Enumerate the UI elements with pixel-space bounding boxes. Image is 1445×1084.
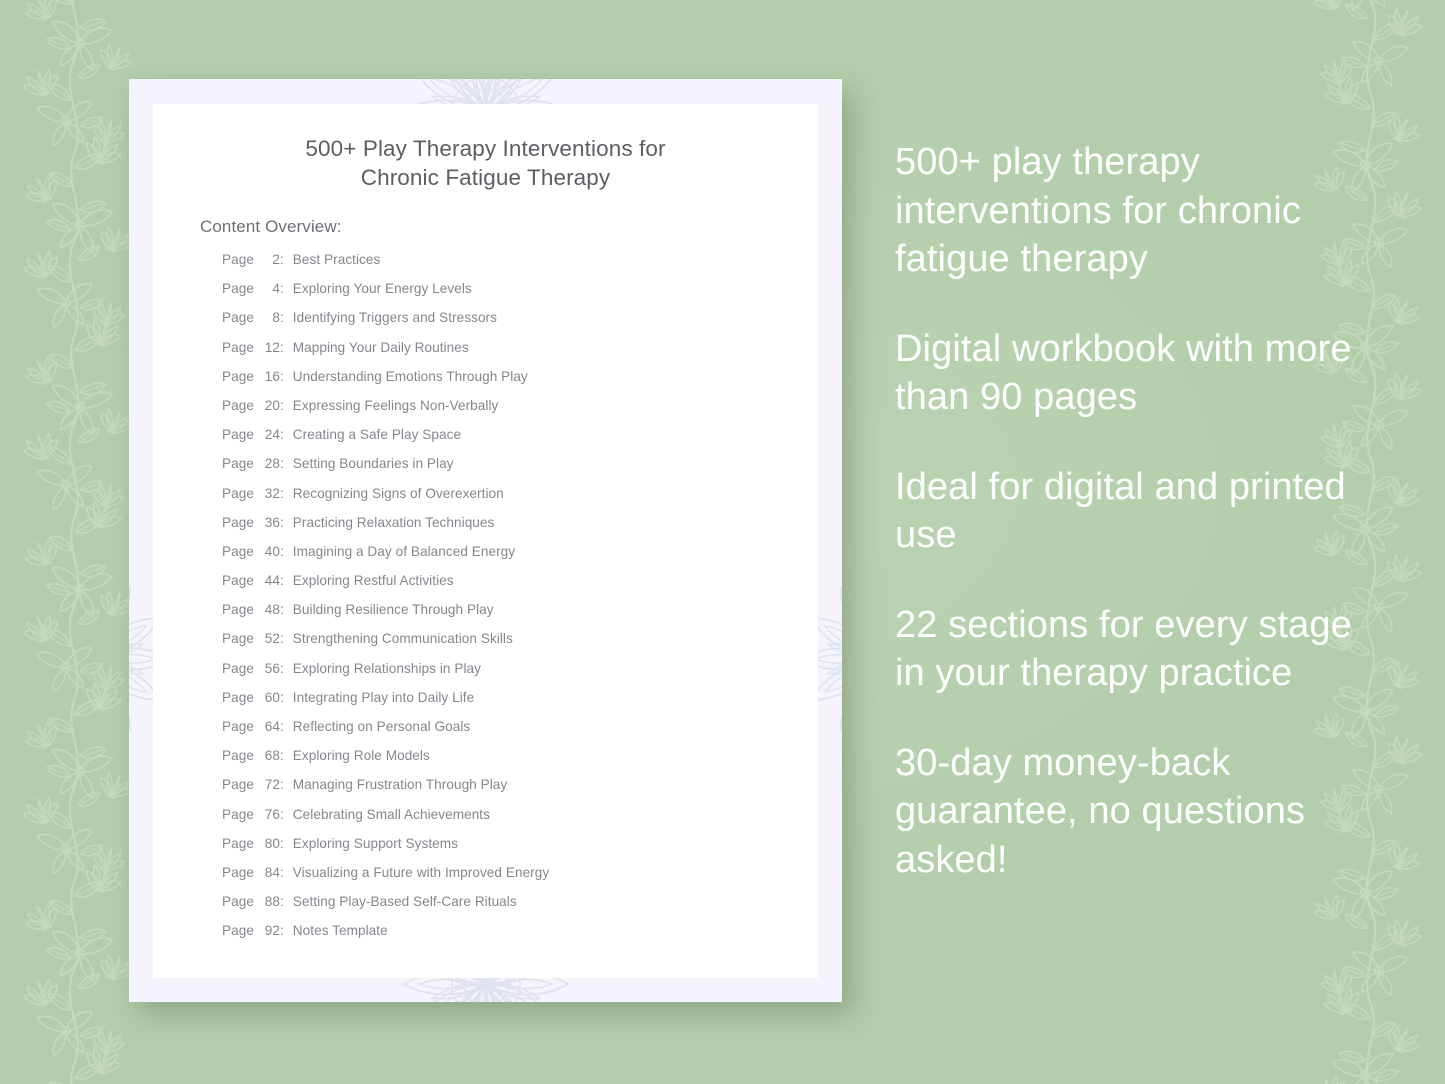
toc-page-word: Page <box>222 807 254 822</box>
toc-row: Page80:Exploring Support Systems <box>222 836 798 865</box>
promo-bullet: 22 sections for every stage in your ther… <box>895 601 1355 698</box>
toc-entry-title: Strengthening Communication Skills <box>293 631 513 646</box>
toc-colon: : <box>280 310 284 325</box>
toc-page-word: Page <box>222 252 254 267</box>
toc-colon: : <box>280 486 284 501</box>
toc-row: Page68:Exploring Role Models <box>222 748 798 777</box>
toc-entry-title: Best Practices <box>293 252 381 267</box>
toc-entry-title: Celebrating Small Achievements <box>293 807 490 822</box>
toc-page-number: 20 <box>258 398 280 413</box>
toc-entry-title: Integrating Play into Daily Life <box>293 690 474 705</box>
toc-page-word: Page <box>222 865 254 880</box>
toc-page-number: 92 <box>258 923 280 938</box>
toc-entry-title: Identifying Triggers and Stressors <box>293 310 497 325</box>
toc-colon: : <box>280 631 284 646</box>
toc-entry-title: Notes Template <box>293 923 388 938</box>
toc-colon: : <box>280 602 284 617</box>
toc-entry-title: Reflecting on Personal Goals <box>293 719 470 734</box>
toc-row: Page52:Strengthening Communication Skill… <box>222 631 798 660</box>
toc-row: Page20:Expressing Feelings Non-Verbally <box>222 398 798 427</box>
toc-colon: : <box>280 923 284 938</box>
toc-colon: : <box>280 398 284 413</box>
toc-colon: : <box>280 369 284 384</box>
toc-entry-title: Exploring Relationships in Play <box>293 661 481 676</box>
toc-page-word: Page <box>222 602 254 617</box>
promo-bullet: Ideal for digital and printed use <box>895 463 1355 560</box>
toc-page-number: 28 <box>258 456 280 471</box>
toc-colon: : <box>280 836 284 851</box>
workbook-page: 500+ Play Therapy Interventions for Chro… <box>153 104 818 978</box>
toc-page-number: 36 <box>258 515 280 530</box>
toc-colon: : <box>280 252 284 267</box>
toc-page-number: 32 <box>258 486 280 501</box>
toc-entry-title: Setting Play-Based Self-Care Rituals <box>293 894 517 909</box>
toc-page-word: Page <box>222 777 254 792</box>
toc-entry-title: Managing Frustration Through Play <box>293 777 507 792</box>
toc-row: Page32:Recognizing Signs of Overexertion <box>222 486 798 515</box>
toc-entry-title: Creating a Safe Play Space <box>293 427 461 442</box>
toc-row: Page40:Imagining a Day of Balanced Energ… <box>222 544 798 573</box>
toc-colon: : <box>280 573 284 588</box>
toc-colon: : <box>280 544 284 559</box>
toc-row: Page76:Celebrating Small Achievements <box>222 807 798 836</box>
toc-page-number: 8 <box>258 310 280 325</box>
toc-page-word: Page <box>222 310 254 325</box>
toc-colon: : <box>280 456 284 471</box>
content-overview-label: Content Overview: <box>200 217 342 237</box>
toc-colon: : <box>280 340 284 355</box>
toc-page-number: 56 <box>258 661 280 676</box>
toc-colon: : <box>280 515 284 530</box>
toc-page-number: 76 <box>258 807 280 822</box>
toc-page-number: 24 <box>258 427 280 442</box>
toc-page-number: 80 <box>258 836 280 851</box>
toc-page-word: Page <box>222 544 254 559</box>
toc-row: Page44:Exploring Restful Activities <box>222 573 798 602</box>
toc-page-word: Page <box>222 281 254 296</box>
toc-page-word: Page <box>222 456 254 471</box>
toc-page-word: Page <box>222 923 254 938</box>
toc-entry-title: Imagining a Day of Balanced Energy <box>293 544 515 559</box>
toc-row: Page92:Notes Template <box>222 923 798 952</box>
toc-page-number: 52 <box>258 631 280 646</box>
toc-row: Page64:Reflecting on Personal Goals <box>222 719 798 748</box>
toc-page-number: 84 <box>258 865 280 880</box>
toc-page-word: Page <box>222 690 254 705</box>
promo-bullet: 30-day money-back guarantee, no question… <box>895 739 1355 885</box>
toc-page-word: Page <box>222 486 254 501</box>
toc-page-number: 2 <box>258 252 280 267</box>
toc-row: Page60:Integrating Play into Daily Life <box>222 690 798 719</box>
toc-page-number: 16 <box>258 369 280 384</box>
toc-page-number: 72 <box>258 777 280 792</box>
toc-row: Page48:Building Resilience Through Play <box>222 602 798 631</box>
toc-entry-title: Expressing Feelings Non-Verbally <box>293 398 499 413</box>
toc-page-word: Page <box>222 661 254 676</box>
toc-page-number: 44 <box>258 573 280 588</box>
toc-entry-title: Building Resilience Through Play <box>293 602 494 617</box>
toc-page-word: Page <box>222 573 254 588</box>
toc-colon: : <box>280 427 284 442</box>
toc-colon: : <box>280 894 284 909</box>
toc-page-word: Page <box>222 515 254 530</box>
promo-text-column: 500+ play therapy interventions for chro… <box>895 138 1355 884</box>
toc-entry-title: Exploring Restful Activities <box>293 573 454 588</box>
toc-row: Page84:Visualizing a Future with Improve… <box>222 865 798 894</box>
toc-entry-title: Exploring Role Models <box>293 748 430 763</box>
toc-entry-title: Visualizing a Future with Improved Energ… <box>293 865 549 880</box>
toc-page-word: Page <box>222 340 254 355</box>
table-of-contents: Page2:Best PracticesPage4:Exploring Your… <box>222 252 798 953</box>
toc-page-word: Page <box>222 748 254 763</box>
toc-page-number: 4 <box>258 281 280 296</box>
promo-bullet: Digital workbook with more than 90 pages <box>895 325 1355 422</box>
toc-entry-title: Exploring Support Systems <box>293 836 458 851</box>
toc-colon: : <box>280 690 284 705</box>
floral-vine-border-icon <box>0 0 150 1084</box>
toc-page-word: Page <box>222 631 254 646</box>
toc-page-number: 12 <box>258 340 280 355</box>
toc-page-word: Page <box>222 369 254 384</box>
page-title-line-2: Chronic Fatigue Therapy <box>153 163 818 192</box>
toc-row: Page36:Practicing Relaxation Techniques <box>222 515 798 544</box>
toc-row: Page24:Creating a Safe Play Space <box>222 427 798 456</box>
toc-row: Page72:Managing Frustration Through Play <box>222 777 798 806</box>
toc-colon: : <box>280 807 284 822</box>
toc-colon: : <box>280 281 284 296</box>
toc-page-number: 88 <box>258 894 280 909</box>
toc-row: Page16:Understanding Emotions Through Pl… <box>222 369 798 398</box>
toc-row: Page12:Mapping Your Daily Routines <box>222 340 798 369</box>
workbook-preview-card: 500+ Play Therapy Interventions for Chro… <box>129 79 842 1002</box>
page-title-line-1: 500+ Play Therapy Interventions for <box>153 134 818 163</box>
toc-colon: : <box>280 777 284 792</box>
promo-bullet: 500+ play therapy interventions for chro… <box>895 138 1355 284</box>
toc-page-number: 60 <box>258 690 280 705</box>
toc-entry-title: Exploring Your Energy Levels <box>293 281 472 296</box>
toc-colon: : <box>280 748 284 763</box>
toc-entry-title: Setting Boundaries in Play <box>293 456 454 471</box>
toc-page-word: Page <box>222 836 254 851</box>
toc-page-word: Page <box>222 398 254 413</box>
toc-row: Page88:Setting Play-Based Self-Care Ritu… <box>222 894 798 923</box>
page-title: 500+ Play Therapy Interventions for Chro… <box>153 134 818 192</box>
toc-page-word: Page <box>222 894 254 909</box>
toc-row: Page56:Exploring Relationships in Play <box>222 661 798 690</box>
toc-page-number: 48 <box>258 602 280 617</box>
toc-colon: : <box>280 865 284 880</box>
toc-colon: : <box>280 661 284 676</box>
toc-page-number: 64 <box>258 719 280 734</box>
toc-row: Page4:Exploring Your Energy Levels <box>222 281 798 310</box>
toc-entry-title: Practicing Relaxation Techniques <box>293 515 495 530</box>
listing-image: 500+ Play Therapy Interventions for Chro… <box>0 0 1445 1084</box>
toc-entry-title: Recognizing Signs of Overexertion <box>293 486 504 501</box>
toc-colon: : <box>280 719 284 734</box>
toc-entry-title: Mapping Your Daily Routines <box>293 340 469 355</box>
toc-page-number: 40 <box>258 544 280 559</box>
toc-entry-title: Understanding Emotions Through Play <box>293 369 528 384</box>
toc-row: Page8:Identifying Triggers and Stressors <box>222 310 798 339</box>
toc-row: Page28:Setting Boundaries in Play <box>222 456 798 485</box>
toc-page-number: 68 <box>258 748 280 763</box>
toc-row: Page2:Best Practices <box>222 252 798 281</box>
toc-page-word: Page <box>222 719 254 734</box>
toc-page-word: Page <box>222 427 254 442</box>
